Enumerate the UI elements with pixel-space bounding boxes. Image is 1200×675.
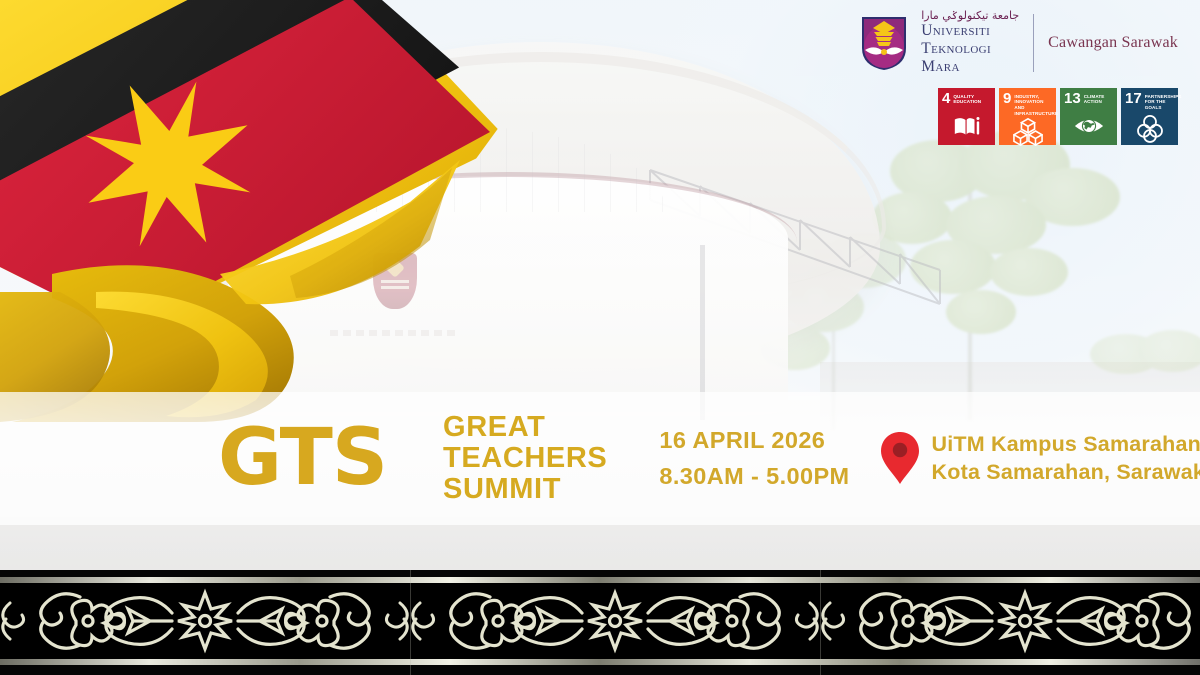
- sdg-label-line2: ACTION: [1084, 99, 1105, 105]
- sarawak-motif-border: [0, 570, 1200, 675]
- border-edge-bottom: [0, 659, 1200, 665]
- event-venue-line1: UiTM Kampus Samarahan,: [932, 430, 1200, 458]
- event-title-line3: SUMMIT: [443, 474, 607, 505]
- open-book-icon: [938, 106, 995, 145]
- sdg-badge-13: 13 CLIMATE ACTION: [1060, 88, 1117, 145]
- sdg-label-line2: FOR THE GOALS: [1145, 99, 1182, 110]
- sdg-number: 9: [1003, 92, 1011, 106]
- logo-row: جامعة تيكنولوݢي مارا Universiti Teknolog…: [859, 10, 1178, 76]
- branch-label: Cawangan Sarawak: [1048, 34, 1178, 52]
- sdg-number: 13: [1064, 92, 1081, 106]
- map-pin-icon: [878, 430, 922, 486]
- event-poster: جامعة تيكنولوݢي مارا Universiti Teknolog…: [0, 0, 1200, 675]
- uitm-line-2: Teknologi: [921, 40, 1019, 58]
- event-datetime: 16 APRIL 2026 8.30AM - 5.00PM: [659, 422, 849, 495]
- uitm-jawi-text: جامعة تيكنولوݢي مارا: [921, 10, 1019, 21]
- sdg-badge-row: 4 QUALITY EDUCATION 9 INDUSTRY, IN: [938, 88, 1178, 145]
- sdg-label-line2: EDUCATION: [953, 99, 981, 105]
- uitm-logo-icon: [859, 14, 909, 72]
- sdg-number: 4: [942, 92, 950, 106]
- sdg-badge-4: 4 QUALITY EDUCATION: [938, 88, 995, 145]
- sdg-badge-17: 17 PARTNERSHIPS FOR THE GOALS: [1121, 88, 1178, 145]
- event-title-line1: GREAT: [443, 412, 607, 443]
- sdg-badge-9: 9 INDUSTRY, INNOVATION AND INFRASTRUCTUR…: [999, 88, 1056, 145]
- eye-globe-icon: [1060, 106, 1117, 145]
- interlocking-circles-icon: [1121, 111, 1178, 145]
- event-venue: UiTM Kampus Samarahan, Kota Samarahan, S…: [932, 430, 1200, 487]
- motif-seam: [820, 570, 821, 675]
- uitm-line-1: Universiti: [921, 22, 1019, 40]
- event-date: 16 APRIL 2026: [659, 422, 849, 458]
- event-title: GREAT TEACHERS SUMMIT: [443, 412, 607, 504]
- sdg-label-line1: INDUSTRY, INNOVATION: [1014, 94, 1058, 105]
- event-banner: GTS GREAT TEACHERS SUMMIT 16 APRIL 2026 …: [0, 392, 1200, 525]
- cubes-icon: [999, 116, 1056, 146]
- motif-seam: [410, 570, 411, 675]
- sarawak-flag-ribbon: [0, 0, 510, 422]
- uitm-wordmark: جامعة تيكنولوݢي مارا Universiti Teknolog…: [921, 10, 1019, 76]
- event-venue-line2: Kota Samarahan, Sarawak: [932, 458, 1200, 486]
- motif-strip: [0, 583, 1200, 659]
- gts-logotype: GTS: [218, 423, 387, 493]
- event-title-line2: TEACHERS: [443, 443, 607, 474]
- uitm-line-3: Mara: [921, 58, 1019, 76]
- logo-divider: [1033, 14, 1034, 72]
- sdg-label-line2: AND INFRASTRUCTURE: [1014, 105, 1058, 116]
- sdg-number: 17: [1125, 92, 1142, 106]
- event-time: 8.30AM - 5.00PM: [659, 458, 849, 494]
